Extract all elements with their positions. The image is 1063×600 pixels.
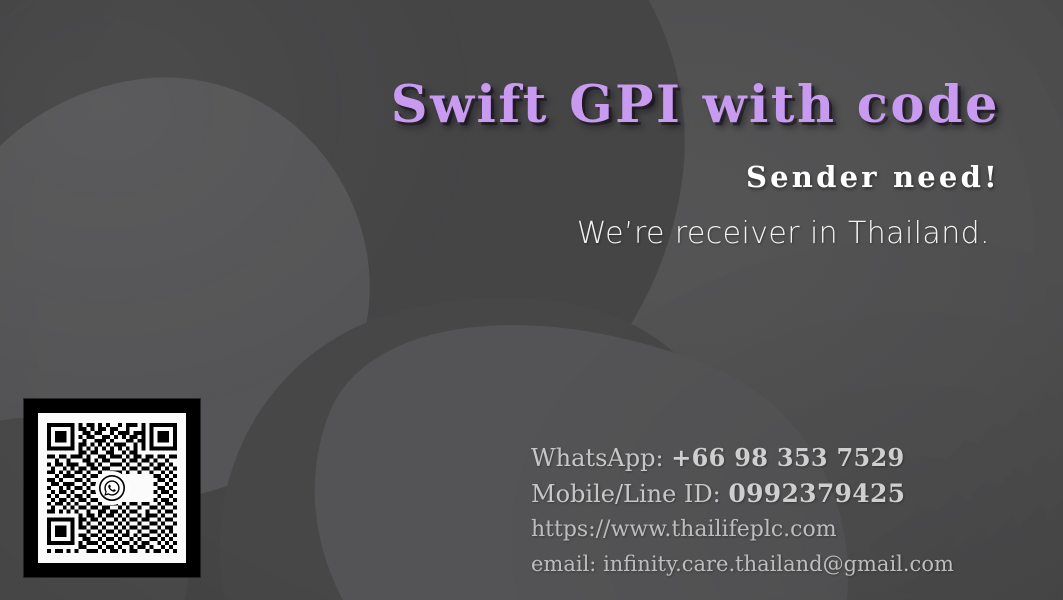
- contact-whatsapp-label: WhatsApp:: [531, 444, 664, 472]
- contact-mobile-label: Mobile/Line ID:: [531, 480, 721, 508]
- page-title: Swift GPI with code: [200, 78, 1000, 132]
- whatsapp-icon: [95, 471, 129, 505]
- contact-mobile-number[interactable]: 0992379425: [728, 479, 905, 508]
- business-card: Swift GPI with code Sender need! We’re r…: [0, 0, 1063, 600]
- page-tagline: We’re receiver in Thailand.: [200, 216, 1000, 251]
- contact-email: email: infinity.care.thailand@gmail.com: [531, 547, 954, 582]
- contact-mobile: Mobile/Line ID: 0992379425: [531, 476, 954, 512]
- contact-email-address[interactable]: infinity.care.thailand@gmail.com: [603, 552, 954, 576]
- contact-whatsapp: WhatsApp: +66 98 353 7529: [531, 440, 954, 476]
- contact-email-label: email:: [531, 552, 596, 576]
- headline-block: Swift GPI with code Sender need! We’re r…: [200, 78, 1000, 251]
- page-subtitle: Sender need!: [200, 160, 1000, 194]
- contact-block: WhatsApp: +66 98 353 7529 Mobile/Line ID…: [531, 440, 954, 582]
- qr-code-quiet-zone: [38, 413, 186, 563]
- whatsapp-qr-code[interactable]: [24, 399, 200, 577]
- contact-whatsapp-number[interactable]: +66 98 353 7529: [671, 443, 904, 472]
- contact-website[interactable]: https://www.thailifeplc.com: [531, 512, 954, 547]
